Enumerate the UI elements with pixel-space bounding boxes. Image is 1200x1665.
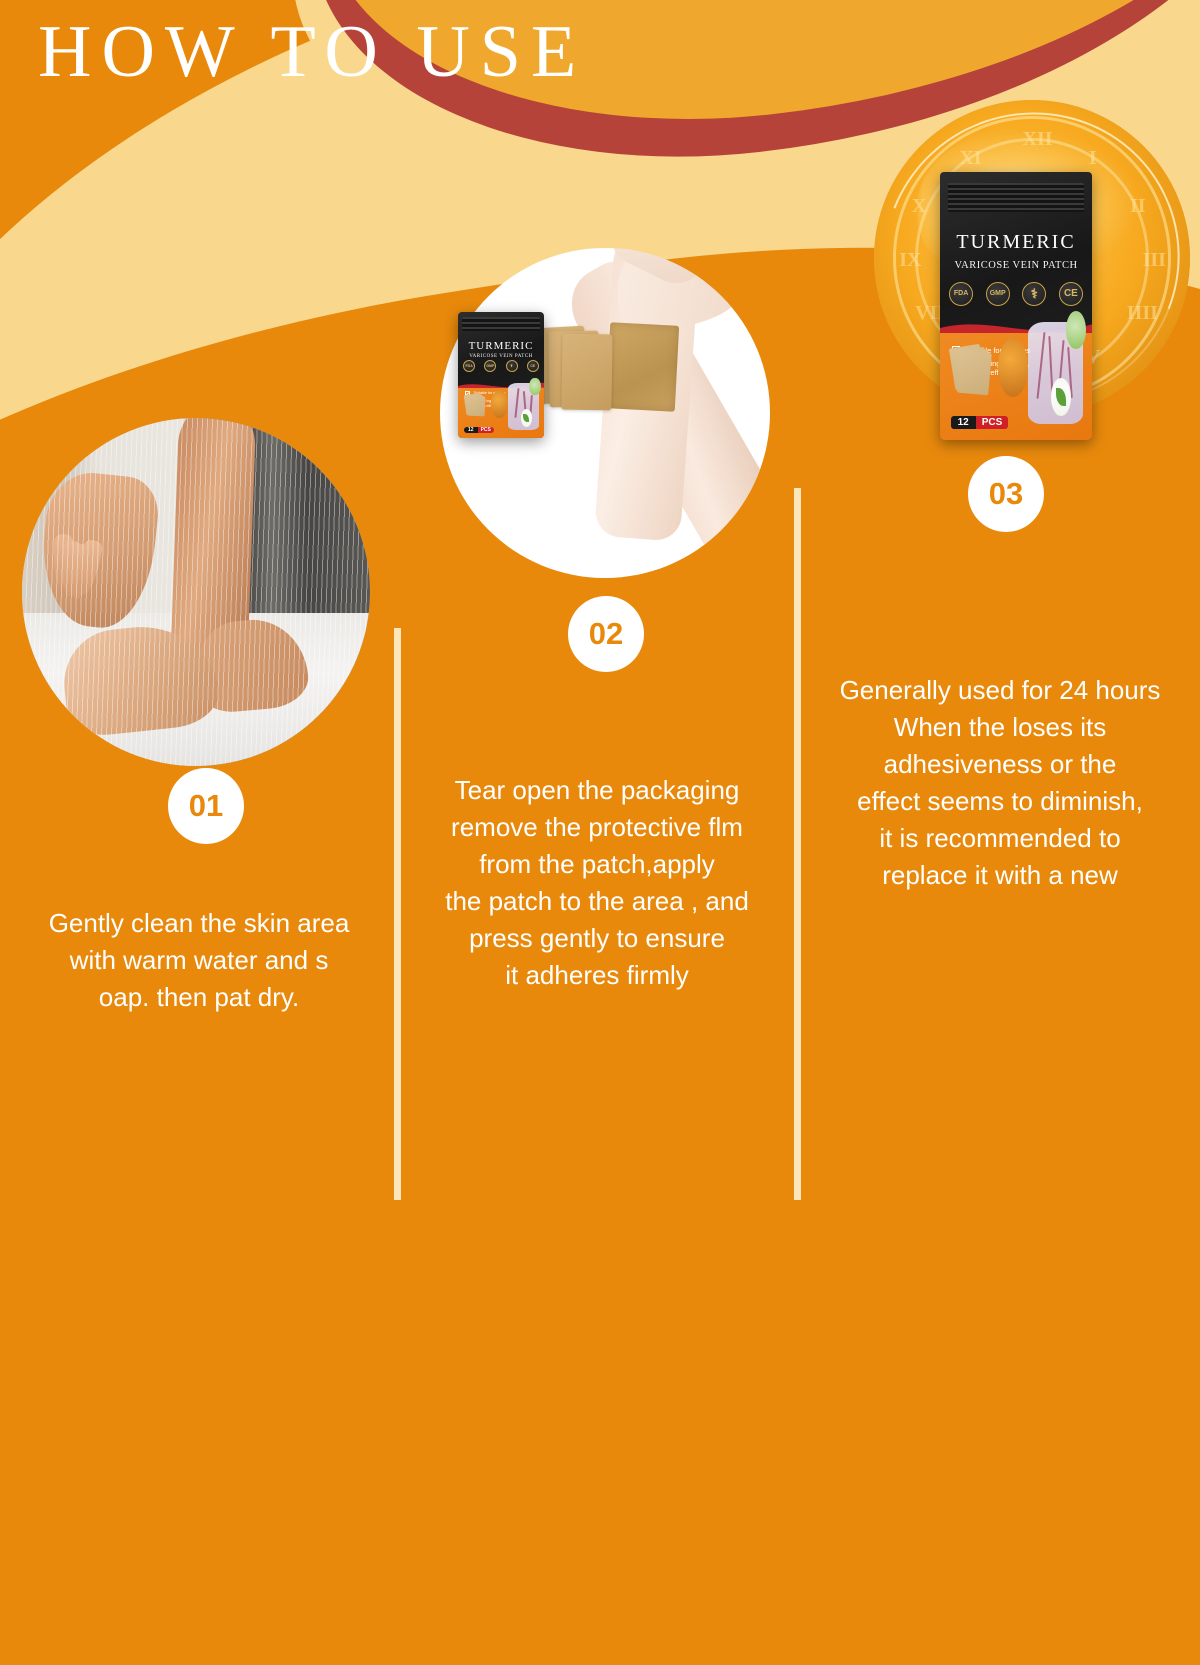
package-count-badge: 12 PCS <box>464 427 494 433</box>
step-3-caption: Generally used for 24 hours When the los… <box>804 672 1196 893</box>
caduceus-icon: ☤ <box>506 360 518 372</box>
column-divider-1 <box>394 628 401 1200</box>
applied-patch <box>606 322 680 411</box>
step-2-caption: Tear open the packaging remove the prote… <box>404 772 790 993</box>
turmeric-root-illustration <box>491 390 508 418</box>
gmp-icon: GMP <box>986 282 1010 306</box>
gmp-icon: GMP <box>484 360 496 372</box>
package-count-badge: 12 PCS <box>951 416 1009 429</box>
water-spray <box>22 418 370 766</box>
package-subtitle: VARICOSE VEIN PATCH <box>940 260 1092 271</box>
leaf-badge-icon <box>1051 378 1071 416</box>
turmeric-root-illustration <box>998 338 1028 397</box>
step-number-badge-03: 03 <box>968 456 1044 532</box>
patch-sheet <box>468 395 486 416</box>
package-count-unit: PCS <box>976 416 1009 429</box>
ce-icon: CE <box>1059 282 1083 306</box>
patch-sheet <box>957 351 991 396</box>
loose-patch <box>561 333 612 410</box>
ce-icon: CE <box>527 360 539 372</box>
green-leaf-badge-icon <box>529 378 540 396</box>
page-title: HOW TO USE <box>38 10 586 95</box>
column-divider-2 <box>794 488 801 1200</box>
product-package-large: TURMERIC VARICOSE VEIN PATCH FDA GMP ⚕ C… <box>940 172 1092 440</box>
step-number-badge-01: 01 <box>168 768 244 844</box>
step-number-badge-02: 02 <box>568 596 644 672</box>
green-leaf-badge-icon <box>1066 311 1086 349</box>
package-count-unit: PCS <box>478 427 494 433</box>
product-package-small: TURMERIC VARICOSE VEIN PATCH FDA GMP ☤ C… <box>458 312 544 438</box>
caduceus-icon: ⚕ <box>1022 282 1046 306</box>
package-patch-stack-illustration <box>465 394 487 417</box>
step-1-photo-circle <box>22 418 370 766</box>
package-title: TURMERIC <box>458 340 544 352</box>
package-title: TURMERIC <box>940 231 1092 253</box>
package-subtitle: VARICOSE VEIN PATCH <box>458 354 544 359</box>
package-zip-seal <box>948 183 1085 212</box>
leaf-badge-icon <box>521 409 532 427</box>
package-count-number: 12 <box>464 427 478 433</box>
vein-line <box>514 388 519 418</box>
fda-icon: FDA <box>949 282 973 306</box>
vein-line <box>1037 332 1046 399</box>
package-zip-seal <box>462 317 539 331</box>
fda-icon: FDA <box>463 360 475 372</box>
step-1-caption: Gently clean the skin area with warm wat… <box>8 905 390 1016</box>
package-patch-stack-illustration <box>952 346 992 394</box>
package-certification-badges: FDA GMP ☤ CE <box>463 360 539 372</box>
package-count-number: 12 <box>951 416 976 429</box>
package-certification-badges: FDA GMP ⚕ CE <box>949 282 1083 306</box>
